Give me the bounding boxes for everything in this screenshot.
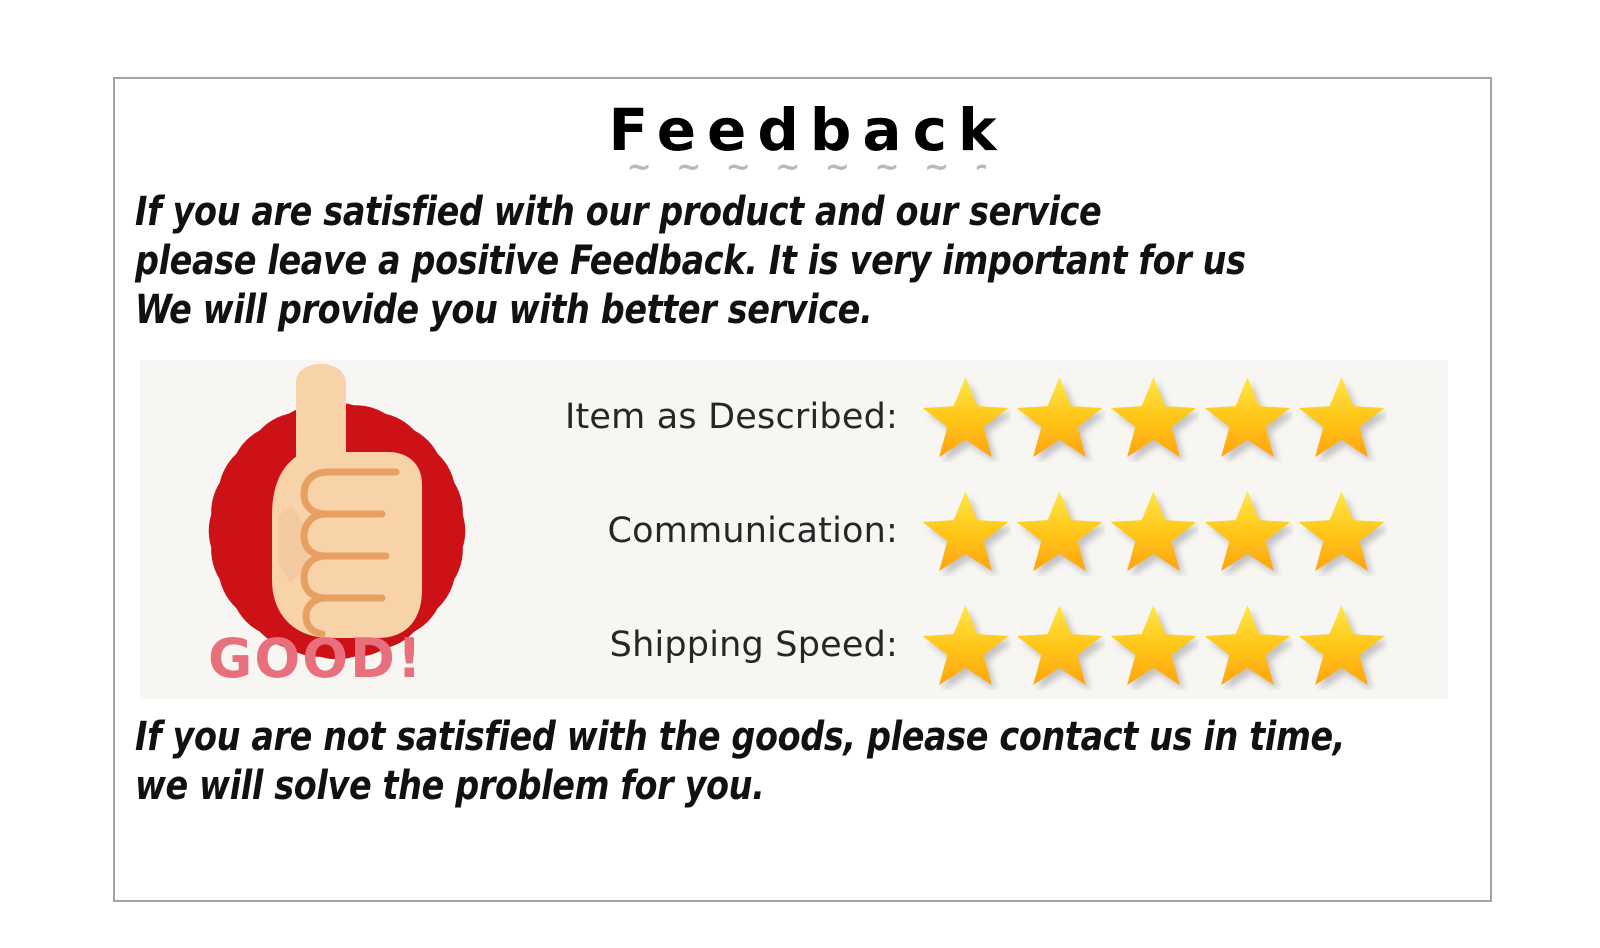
rating-label: Shipping Speed: <box>530 626 920 665</box>
rating-panel: GOOD! Item as Described: <box>140 360 1448 699</box>
thumbs-up-hand-icon <box>200 364 470 656</box>
star-rating-shipping-speed[interactable] <box>920 602 1387 690</box>
star-icon[interactable] <box>1014 488 1105 576</box>
feedback-card-page: Feedback ~ ~ ~ ~ ~ ~ ~ ~ ~ If you are sa… <box>0 0 1600 948</box>
star-icon[interactable] <box>1108 374 1199 462</box>
rating-label: Item as Described: <box>530 398 920 437</box>
star-icon[interactable] <box>1296 374 1387 462</box>
star-icon[interactable] <box>920 488 1011 576</box>
rating-row-item-as-described: Item as Described: <box>530 374 1414 462</box>
thumbs-up-art <box>200 364 470 656</box>
title-block: Feedback ~ ~ ~ ~ ~ ~ ~ ~ ~ <box>115 101 1490 179</box>
page-title: Feedback <box>597 101 1007 159</box>
rating-label: Communication: <box>530 512 920 551</box>
star-icon[interactable] <box>920 602 1011 690</box>
rating-rows: Item as Described: Communication: <box>530 370 1448 690</box>
rating-row-communication: Communication: <box>530 488 1414 576</box>
star-icon[interactable] <box>1014 374 1105 462</box>
rating-row-shipping-speed: Shipping Speed: <box>530 602 1414 690</box>
feedback-card-frame: Feedback ~ ~ ~ ~ ~ ~ ~ ~ ~ If you are sa… <box>113 77 1492 902</box>
title-squiggle-underline: ~ ~ ~ ~ ~ ~ ~ ~ ~ <box>620 157 986 179</box>
star-icon[interactable] <box>1108 602 1199 690</box>
star-rating-communication[interactable] <box>920 488 1387 576</box>
star-icon[interactable] <box>1014 602 1105 690</box>
star-icon[interactable] <box>1202 374 1293 462</box>
good-caption: GOOD! <box>208 632 424 686</box>
star-rating-item-as-described[interactable] <box>920 374 1387 462</box>
star-icon[interactable] <box>920 374 1011 462</box>
closing-paragraph: If you are not satisfied with the goods,… <box>135 713 1437 811</box>
star-icon[interactable] <box>1108 488 1199 576</box>
star-icon[interactable] <box>1296 602 1387 690</box>
star-icon[interactable] <box>1202 602 1293 690</box>
star-icon[interactable] <box>1202 488 1293 576</box>
intro-paragraph: If you are satisfied with our product an… <box>135 188 1437 335</box>
thumbs-up-illustration: GOOD! <box>140 360 530 699</box>
star-icon[interactable] <box>1296 488 1387 576</box>
